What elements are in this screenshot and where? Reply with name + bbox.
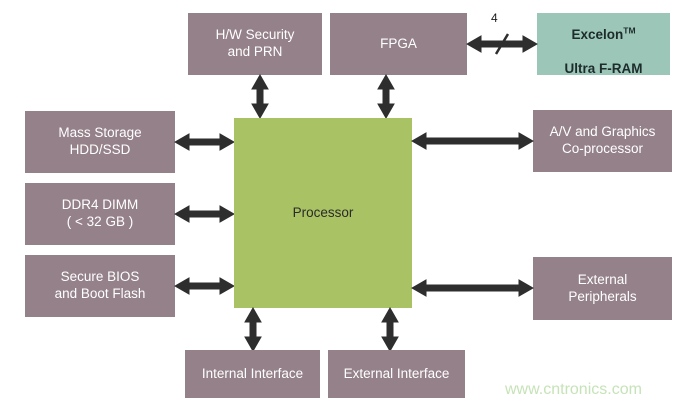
block-ddr4-dimm[interactable]: DDR4 DIMM ( < 32 GB ) xyxy=(25,183,175,245)
bus-width-label-fpga-excelon: 4 xyxy=(491,11,498,25)
arrow-processor-external-interface xyxy=(376,308,404,351)
block-ddr4-dimm-label: DDR4 DIMM ( < 32 GB ) xyxy=(62,197,139,231)
arrow-mass-storage-processor xyxy=(175,128,234,156)
block-internal-interface-label: Internal Interface xyxy=(202,366,303,383)
block-external-peripherals-label: External Peripherals xyxy=(568,272,636,306)
watermark-text: www.cntronics.com xyxy=(505,381,642,399)
arrow-fpga-excelon xyxy=(467,30,537,58)
block-processor[interactable]: Processor xyxy=(234,118,412,308)
block-external-interface[interactable]: External Interface xyxy=(328,350,465,398)
block-excelon-label: ExcelonTM Ultra F-RAM xyxy=(565,10,643,78)
block-diagram-canvas: H/W Security and PRN FPGA ExcelonTM Ultr… xyxy=(0,0,689,409)
block-secure-bios-label: Secure BIOS and Boot Flash xyxy=(55,269,146,303)
arrow-fpga-processor xyxy=(372,75,400,118)
block-hw-security-label: H/W Security and PRN xyxy=(216,27,295,61)
excelon-product-text: Ultra F-RAM xyxy=(565,61,643,76)
block-hw-security[interactable]: H/W Security and PRN xyxy=(188,13,322,75)
block-av-graphics-coprocessor[interactable]: A/V and Graphics Co-processor xyxy=(533,110,672,172)
excelon-brand-text: Excelon xyxy=(571,27,623,42)
arrow-ddr4-processor xyxy=(175,200,234,228)
block-internal-interface[interactable]: Internal Interface xyxy=(185,350,320,398)
arrow-processor-internal-interface xyxy=(239,308,267,351)
block-excelon-ultra-fram[interactable]: ExcelonTM Ultra F-RAM xyxy=(537,13,670,75)
block-mass-storage[interactable]: Mass Storage HDD/SSD xyxy=(25,111,175,173)
block-fpga-label: FPGA xyxy=(380,36,417,53)
arrow-hw-security-processor xyxy=(246,75,274,118)
arrow-processor-av-graphics xyxy=(412,127,533,155)
arrow-secure-bios-processor xyxy=(175,272,234,300)
block-mass-storage-label: Mass Storage HDD/SSD xyxy=(58,125,141,159)
trademark-symbol: TM xyxy=(623,26,635,36)
block-fpga[interactable]: FPGA xyxy=(330,13,467,75)
block-processor-label: Processor xyxy=(293,205,354,222)
block-secure-bios[interactable]: Secure BIOS and Boot Flash xyxy=(25,255,175,317)
block-external-interface-label: External Interface xyxy=(344,366,450,383)
block-external-peripherals[interactable]: External Peripherals xyxy=(533,257,672,320)
arrow-processor-external-peripherals xyxy=(412,274,533,302)
block-av-graphics-coprocessor-label: A/V and Graphics Co-processor xyxy=(550,124,656,158)
